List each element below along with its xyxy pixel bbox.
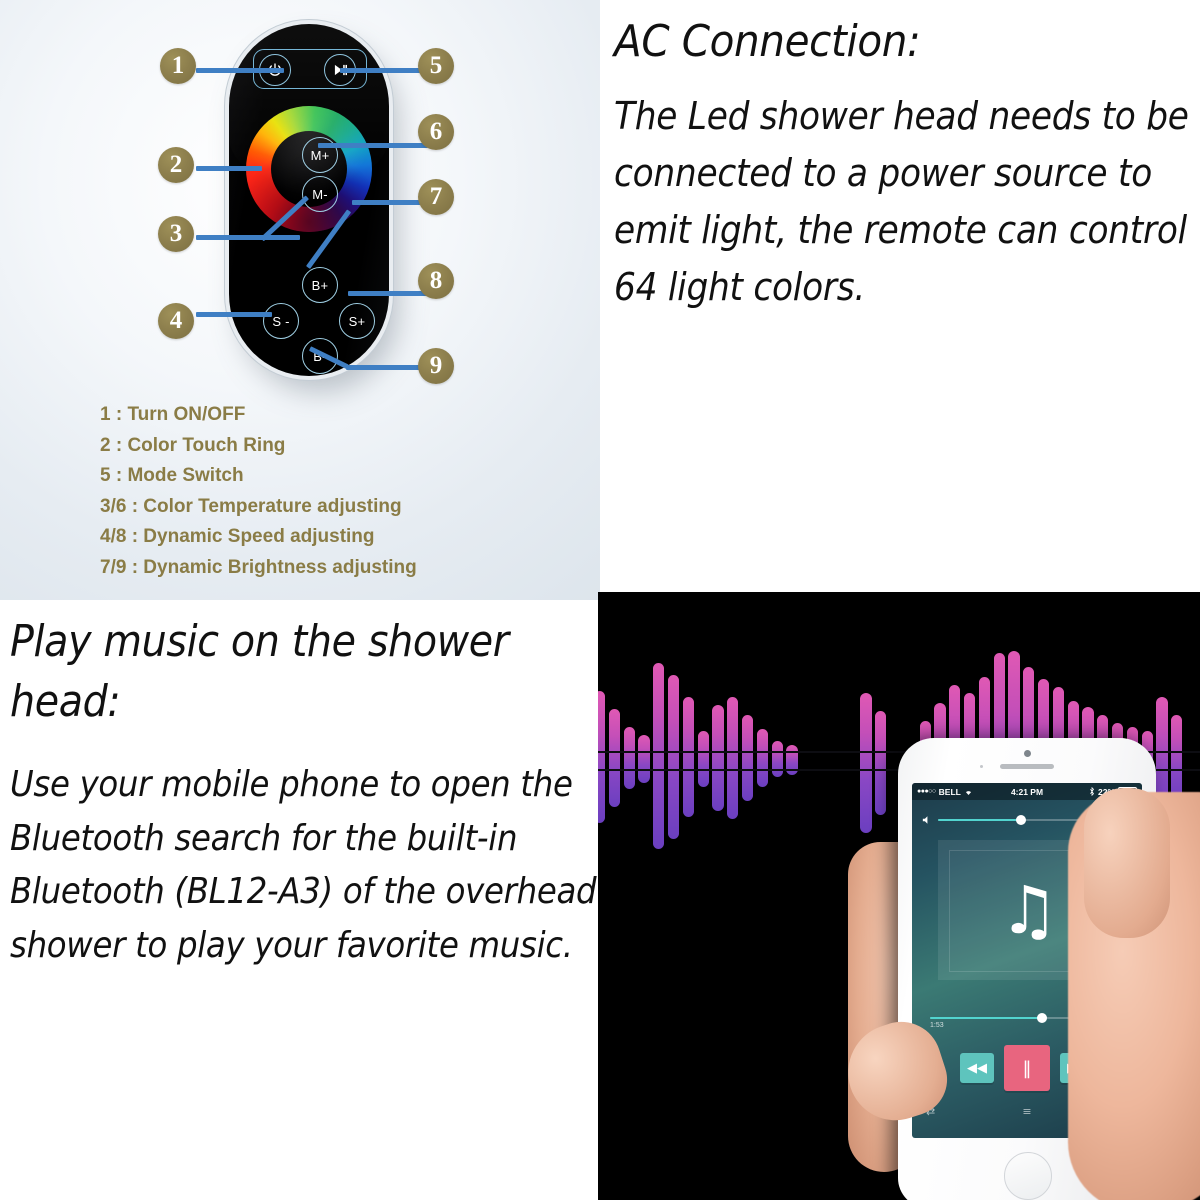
- legend-item: 1 : Turn ON/OFF: [100, 400, 570, 431]
- leader-line-9: [346, 365, 428, 370]
- front-camera-icon: [1024, 750, 1031, 757]
- pause-button[interactable]: ‖: [1004, 1045, 1050, 1091]
- speed-minus-button[interactable]: S -: [263, 303, 299, 339]
- callout-badge-4: 4: [158, 303, 194, 339]
- leader-line-7: [352, 200, 428, 205]
- progress-fill: [930, 1017, 1042, 1019]
- proximity-sensor-icon: [980, 765, 983, 768]
- ac-connection-panel: AC Connection: The Led shower head needs…: [600, 0, 1200, 592]
- leader-line-4: [196, 312, 272, 317]
- callout-badge-5: 5: [418, 48, 454, 84]
- leader-line-6: [318, 143, 428, 148]
- equalizer-bar: [609, 709, 620, 807]
- carrier-label: BELL: [939, 787, 961, 797]
- legend-item: 7/9 : Dynamic Brightness adjusting: [100, 553, 570, 584]
- signal-strength-icon: ●●●○○: [917, 788, 936, 795]
- legend-list: 1 : Turn ON/OFF 2 : Color Touch Ring 5 :…: [100, 400, 570, 583]
- playlist-icon[interactable]: ≡: [1022, 1105, 1031, 1118]
- leader-line-5: [340, 68, 428, 73]
- callout-badge-8: 8: [418, 263, 454, 299]
- music-note-icon: ♫: [999, 878, 1058, 944]
- legend-item: 4/8 : Dynamic Speed adjusting: [100, 522, 570, 553]
- equalizer-bar: [598, 691, 605, 823]
- remote-diagram-panel: M+ M- B+ S - S+ B- 1 2 3 4 5 6 7 8 9: [0, 0, 600, 600]
- equalizer-bar: [624, 727, 635, 789]
- callout-badge-6: 6: [418, 114, 454, 150]
- volume-low-icon: [922, 815, 932, 825]
- phone-photo-panel: ●●●○○ BELL 4:21 PM 22%: [598, 592, 1200, 1200]
- index-finger: [1084, 788, 1170, 938]
- volume-fill: [938, 819, 1021, 821]
- equalizer-bar: [712, 705, 723, 811]
- equalizer-bar: [698, 731, 709, 787]
- clock-label: 4:21 PM: [1011, 787, 1043, 797]
- equalizer-bar: [638, 735, 649, 783]
- wifi-icon: [964, 788, 973, 796]
- legend-item: 2 : Color Touch Ring: [100, 431, 570, 462]
- ac-connection-title: AC Connection:: [614, 16, 920, 67]
- callout-badge-9: 9: [418, 348, 454, 384]
- status-bar-left: ●●●○○ BELL: [917, 787, 973, 797]
- legend-item: 3/6 : Color Temperature adjusting: [100, 492, 570, 523]
- play-music-panel: Play music on the shower head: Use your …: [0, 600, 598, 1200]
- leader-line-8: [348, 291, 428, 296]
- ac-connection-body: The Led shower head needs to be connecte…: [614, 88, 1193, 316]
- equalizer-bar: [875, 711, 886, 815]
- callout-badge-2: 2: [158, 147, 194, 183]
- equalizer-bar: [653, 663, 664, 849]
- rewind-button[interactable]: ◀◀: [960, 1053, 994, 1083]
- leader-line-3: [196, 235, 300, 240]
- equalizer-bar: [772, 741, 783, 777]
- equalizer-bar: [668, 675, 679, 839]
- callout-badge-3: 3: [158, 216, 194, 252]
- equalizer-bar: [742, 715, 753, 801]
- play-music-body: Use your mobile phone to open the Blueto…: [10, 758, 604, 972]
- speed-plus-button[interactable]: S+: [339, 303, 375, 339]
- equalizer-bar: [683, 697, 694, 817]
- callout-badge-1: 1: [160, 48, 196, 84]
- elapsed-time-label: 1:53: [930, 1022, 944, 1029]
- volume-knob: [1016, 815, 1026, 825]
- mode-minus-button[interactable]: M-: [302, 176, 338, 212]
- bluetooth-icon: [1089, 787, 1095, 796]
- play-music-title: Play music on the shower head:: [10, 612, 568, 732]
- equalizer-bar: [1171, 715, 1182, 801]
- equalizer-bar: [860, 693, 871, 833]
- product-infographic: M+ M- B+ S - S+ B- 1 2 3 4 5 6 7 8 9: [0, 0, 1200, 1200]
- earpiece-speaker: [1000, 764, 1054, 769]
- leader-line-1: [196, 68, 284, 73]
- brightness-plus-button[interactable]: B+: [302, 267, 338, 303]
- leader-line-2: [196, 166, 262, 171]
- legend-item: 5 : Mode Switch: [100, 461, 570, 492]
- equalizer-bar: [727, 697, 738, 819]
- callout-badge-7: 7: [418, 179, 454, 215]
- equalizer-bar: [757, 729, 768, 787]
- progress-knob: [1037, 1013, 1047, 1023]
- home-button[interactable]: [1004, 1152, 1052, 1200]
